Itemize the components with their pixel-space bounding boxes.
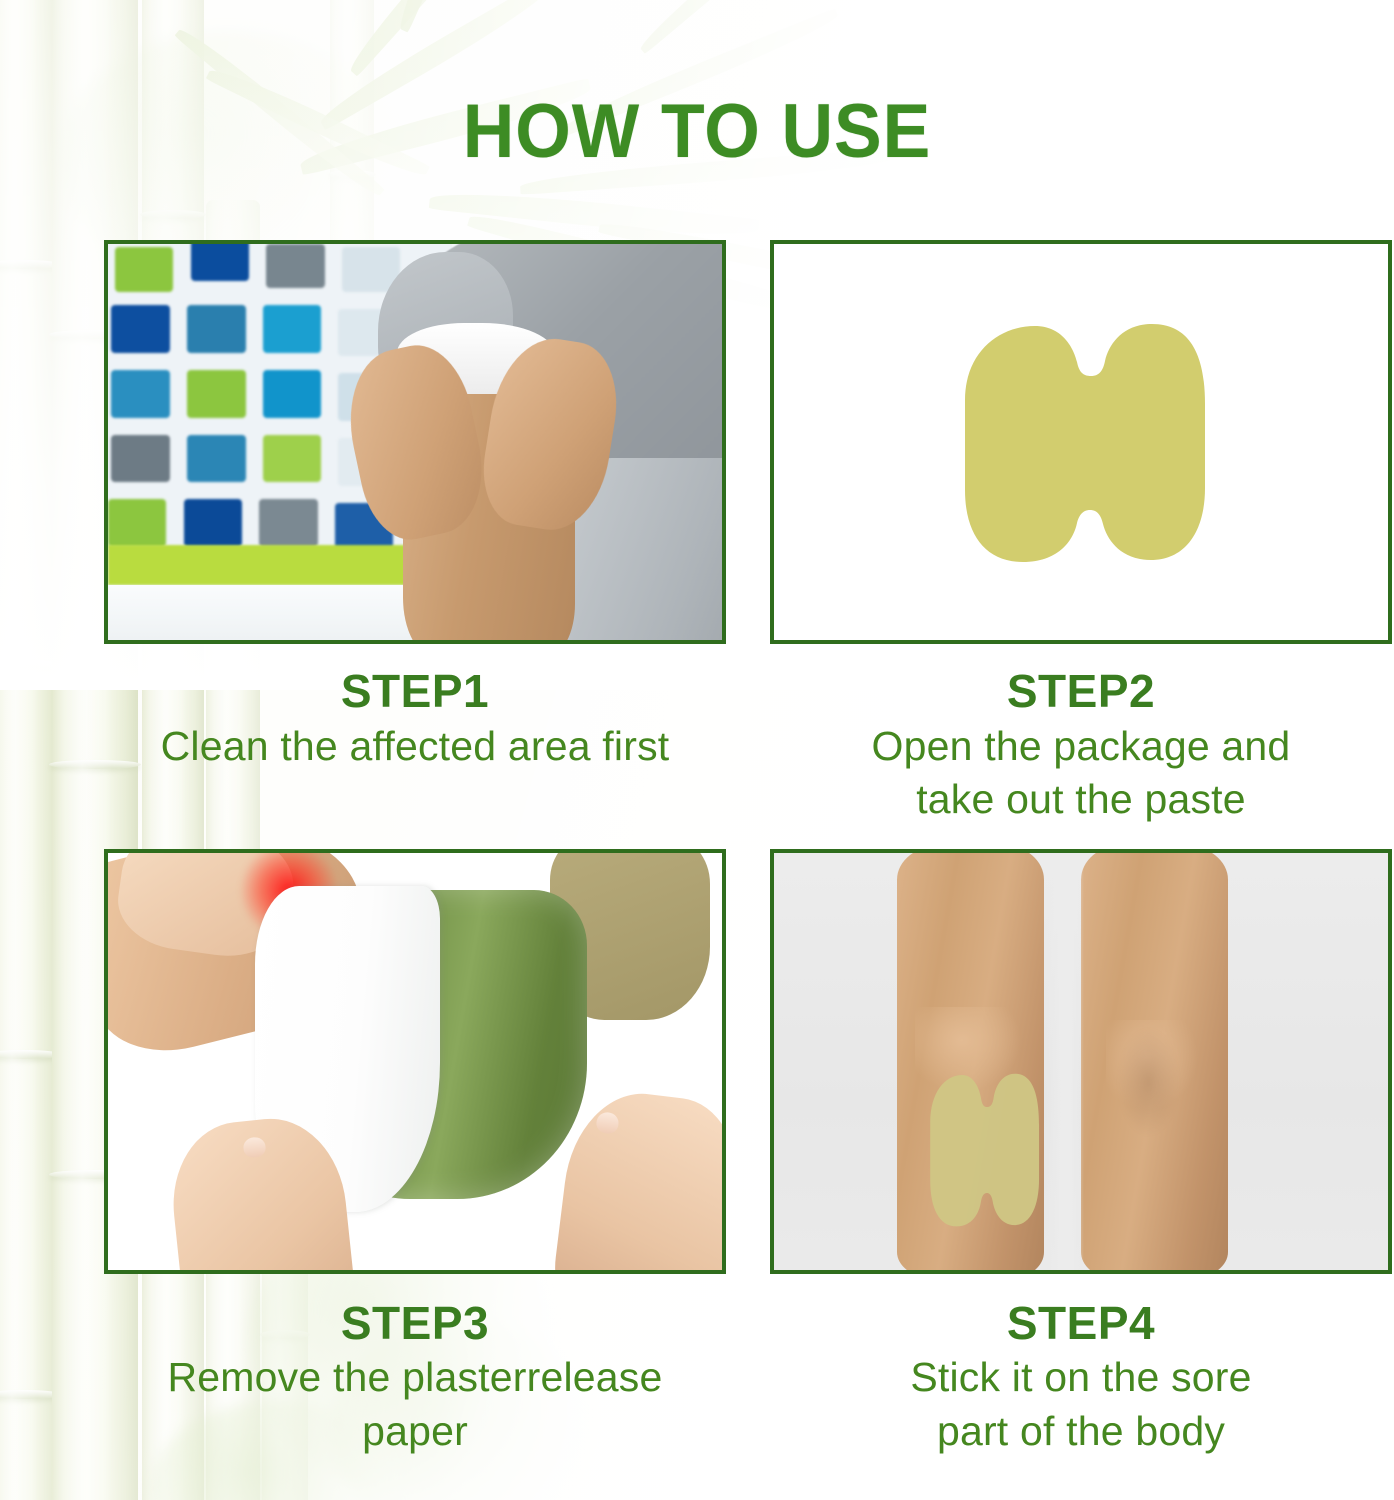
step4-line-1: Stick it on the sore — [770, 1349, 1392, 1402]
step-cell-2: STEP2 Open the package and take out the … — [770, 240, 1392, 824]
steps-grid: STEP1 Clean the affected area first STEP… — [104, 240, 1292, 1456]
right-knee-shading — [1118, 1028, 1179, 1136]
fingernail — [242, 1136, 266, 1158]
step4-caption: STEP4 Stick it on the sore part of the b… — [770, 1274, 1392, 1456]
step3-line-1: Remove the plasterrelease — [104, 1349, 726, 1402]
step2-caption: STEP2 Open the package and take out the … — [770, 644, 1392, 824]
applied-knee-patch — [903, 1066, 1063, 1233]
step2-heading: STEP2 — [770, 666, 1392, 718]
bamboo-leaf — [635, 0, 829, 54]
step1-caption: STEP1 Clean the affected area first — [104, 644, 726, 771]
knee-patch-shape-icon — [905, 312, 1257, 572]
page-title: HOW TO USE — [42, 94, 1352, 170]
step4-line-2: part of the body — [770, 1403, 1392, 1456]
step2-line-2: take out the paste — [770, 771, 1392, 824]
bamboo-leaf — [429, 185, 760, 243]
step1-heading: STEP1 — [104, 666, 726, 718]
how-to-use-infographic: HOW TO USE — [0, 0, 1394, 1500]
step3-caption: STEP3 Remove the plasterrelease paper — [104, 1274, 726, 1456]
step1-line-1: Clean the affected area first — [104, 718, 726, 771]
step3-heading: STEP3 — [104, 1298, 726, 1350]
fingernail — [596, 1111, 621, 1135]
step2-image-frame — [770, 240, 1392, 644]
step4-heading: STEP4 — [770, 1298, 1392, 1350]
photo-peeling-release-paper — [108, 853, 722, 1270]
step-cell-3: STEP3 Remove the plasterrelease paper — [104, 824, 726, 1456]
photo-patch-applied-to-knee — [774, 853, 1388, 1270]
photo-person-holding-knee — [108, 244, 722, 640]
step2-line-1: Open the package and — [770, 718, 1392, 771]
step-cell-4: STEP4 Stick it on the sore part of the b… — [770, 824, 1392, 1456]
step3-line-2: paper — [104, 1403, 726, 1456]
step3-image-frame — [104, 849, 726, 1274]
step4-image-frame — [770, 849, 1392, 1274]
bamboo-culm — [0, 0, 60, 1500]
knee-patch-shape-icon — [903, 1066, 1063, 1233]
photo-knee-patch-product — [774, 244, 1388, 640]
bamboo-leaf — [343, 0, 525, 77]
step-cell-1: STEP1 Clean the affected area first — [104, 240, 726, 824]
step1-image-frame — [104, 240, 726, 644]
bamboo-leaf — [392, 0, 502, 33]
